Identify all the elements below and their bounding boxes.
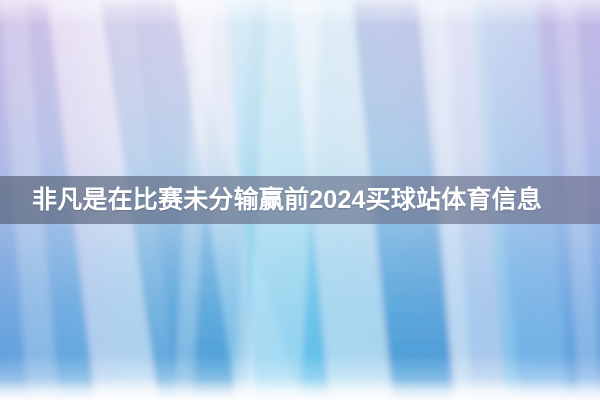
caption-text: 非凡是在比赛未分输赢前2024买球站体育信息	[32, 188, 542, 213]
bottom-white-fade	[0, 356, 600, 400]
banner-image: 非凡是在比赛未分输赢前2024买球站体育信息	[0, 0, 600, 400]
top-highlight-fade	[0, 0, 600, 26]
caption-band: 非凡是在比赛未分输赢前2024买球站体育信息	[0, 176, 600, 224]
